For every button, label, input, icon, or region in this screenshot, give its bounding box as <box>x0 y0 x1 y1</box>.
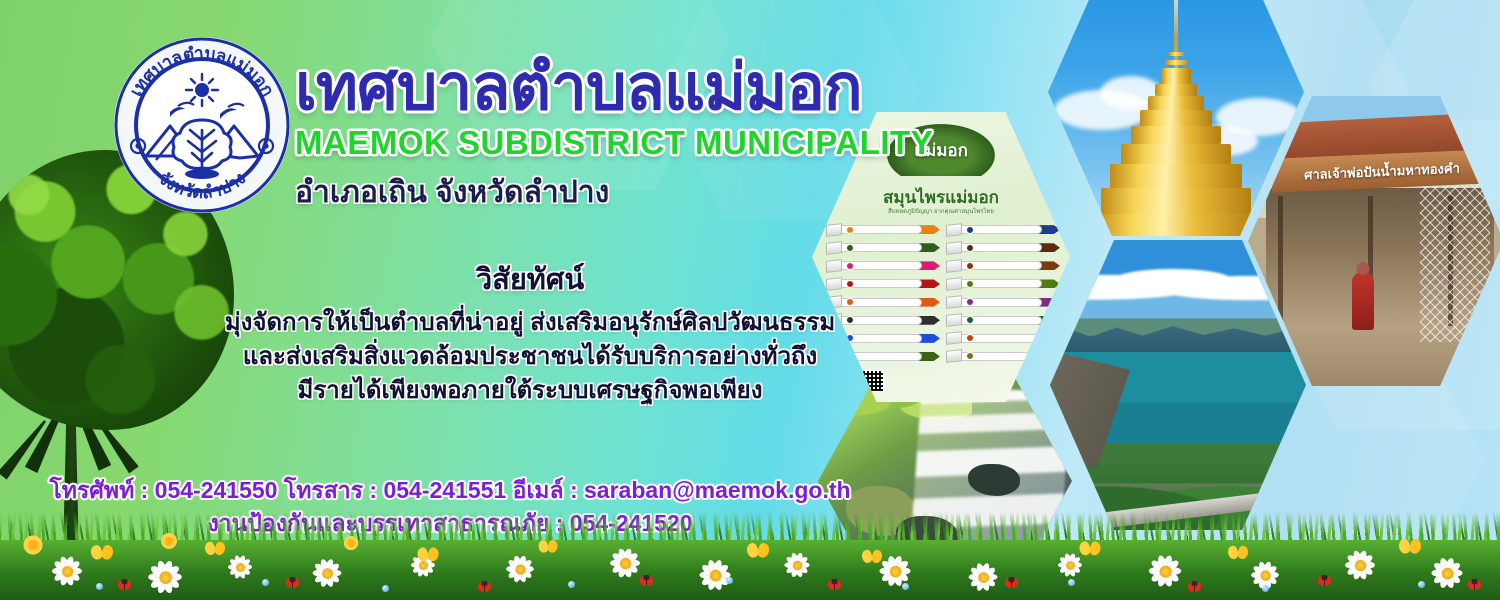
vision-heading: วิสัยทัศน์ <box>210 256 850 302</box>
poster-product-item <box>826 240 940 255</box>
organization-name-english: MAEMOK SUBDISTRICT MUNICIPALITY <box>295 126 995 161</box>
product-box <box>946 223 962 237</box>
photo-golden-pagoda: วัดพ บ้านกุ่ อำเภ <box>1048 0 1304 236</box>
daisy-flower <box>503 552 538 587</box>
product-box <box>826 223 842 237</box>
vision-line-3: มีรายได้เพียงพอภายใต้ระบบเศรษฐกิจพอเพียง <box>210 374 850 408</box>
flower-core <box>515 564 525 574</box>
butterfly-wing <box>1236 545 1250 560</box>
product-dot <box>846 244 854 252</box>
poster-product-item <box>946 295 1060 310</box>
butterfly <box>539 540 558 553</box>
poster-product-item <box>946 240 1060 255</box>
product-arrow <box>1038 334 1060 343</box>
mountain-range <box>1050 318 1306 352</box>
product-box <box>946 295 962 309</box>
vision-line-1: มุ่งจัดการให้เป็นตำบลที่น่าอยู่ ส่งเสริม… <box>210 306 850 340</box>
product-dot <box>966 244 974 252</box>
flower-core <box>1441 567 1453 579</box>
poster-product-grid <box>826 222 1060 364</box>
ladybug <box>828 579 841 590</box>
butterfly <box>1080 542 1101 557</box>
butterfly-wing <box>756 542 771 559</box>
flower-core <box>792 560 801 569</box>
dew-drop <box>726 577 733 584</box>
flower-core <box>1066 561 1075 570</box>
municipal-seal-logo: เทศบาลตำบลแม่มอก จังหวัดลำปาง <box>112 34 292 216</box>
flower-core <box>159 571 172 584</box>
ladybug <box>286 577 299 588</box>
dew-drop <box>1262 585 1269 592</box>
stupa <box>1096 0 1256 236</box>
flower-core <box>1159 565 1171 577</box>
butterfly-wing <box>1408 538 1423 555</box>
ladybug <box>118 579 131 590</box>
product-dot <box>966 262 974 270</box>
poster-product-item <box>946 331 1060 346</box>
seal-svg: เทศบาลตำบลแม่มอก จังหวัดลำปาง <box>112 34 292 216</box>
product-box <box>946 331 962 345</box>
poster-product-item <box>826 222 940 237</box>
shrine-sign-text: ศาลเจ้าพ่อปันน้ำมหาทองคำ <box>1304 157 1460 185</box>
butterfly <box>205 542 225 556</box>
butterfly <box>91 545 113 560</box>
product-dot <box>966 298 974 306</box>
yellow-flower <box>158 530 180 552</box>
ladybug <box>1318 575 1331 586</box>
daisy-flower <box>965 559 1001 595</box>
dew-drop <box>902 583 909 590</box>
contact-phone-fax-email: โทรศัพท์ : 054-241550 โทรสาร : 054-24155… <box>40 474 860 507</box>
product-dot <box>966 226 974 234</box>
municipality-banner: วัดพ บ้านกุ่ อำเภ ศาลเจ้าพ่อปันน้ำมหาทอง… <box>0 0 1500 600</box>
product-dot <box>966 280 974 288</box>
daisy-flower <box>309 555 345 591</box>
vision-line-2: และส่งเสริมสิ่งแวดล้อมประชาชนได้รับบริกา… <box>210 340 850 374</box>
dew-drop <box>262 579 269 586</box>
poster-product-item <box>946 349 1060 364</box>
product-box <box>946 259 962 273</box>
dew-drop <box>1068 579 1075 586</box>
shrine-wire-mesh <box>1420 182 1490 342</box>
poster-product-item <box>946 313 1060 328</box>
product-box <box>826 241 842 255</box>
butterfly-wing <box>100 544 115 561</box>
product-box <box>946 277 962 291</box>
daisy-flower <box>144 556 186 598</box>
product-tag <box>840 352 922 361</box>
flower-core <box>889 565 901 577</box>
shrine-idol <box>1352 272 1374 330</box>
product-box <box>946 350 962 364</box>
ladybug <box>640 575 653 586</box>
ladybug <box>1188 581 1201 592</box>
ladybug <box>1005 577 1018 588</box>
flower-core <box>1354 559 1365 570</box>
yellow-flower <box>20 532 46 558</box>
dam-crest <box>1050 348 1190 468</box>
title-block: เทศบาลตำบลแม่มอก MAEMOK SUBDISTRICT MUNI… <box>295 55 995 216</box>
butterfly-wing <box>213 541 227 556</box>
yellow-flower <box>341 533 361 553</box>
daisy-flower <box>696 556 735 595</box>
flower-core <box>978 572 989 583</box>
dew-drop <box>382 585 389 592</box>
butterfly <box>418 548 439 563</box>
ladybug <box>1468 579 1481 590</box>
daisy-flower <box>48 552 86 590</box>
daisy-flower <box>606 544 644 582</box>
butterfly-wing <box>426 546 440 562</box>
flower-core <box>709 569 721 581</box>
organization-name-thai: เทศบาลตำบลแม่มอก <box>295 55 995 120</box>
dew-drop <box>568 581 575 588</box>
ladybug <box>478 581 491 592</box>
butterfly <box>862 550 882 564</box>
flower-core <box>322 568 333 579</box>
flower-core <box>1260 570 1270 580</box>
daisy-flower <box>1341 546 1379 584</box>
butterfly-wing <box>1088 540 1102 556</box>
daisy-flower <box>781 549 813 581</box>
poster-product-item <box>946 222 1060 237</box>
butterfly-wing <box>870 549 884 564</box>
poster-product-item <box>946 276 1060 291</box>
grass-border <box>0 514 1500 600</box>
dew-drop <box>96 583 103 590</box>
poster-product-item <box>946 258 1060 273</box>
daisy-flower <box>1145 551 1186 592</box>
organization-location: อำเภอเถิน จังหวัดลำปาง <box>295 169 995 216</box>
vision-statement: วิสัยทัศน์ มุ่งจัดการให้เป็นตำบลที่น่าอย… <box>210 256 850 408</box>
dew-drop <box>1418 581 1425 588</box>
product-box <box>946 313 962 327</box>
shrine-beam <box>1278 196 1283 326</box>
qr-code <box>862 370 884 392</box>
butterfly <box>1228 546 1248 560</box>
product-dot <box>846 226 854 234</box>
flower-core <box>61 565 72 576</box>
butterfly <box>747 543 769 558</box>
product-box <box>946 241 962 255</box>
flower-core <box>236 563 245 572</box>
daisy-flower <box>225 552 255 582</box>
product-arrow <box>1038 352 1060 361</box>
daisy-flower <box>1428 554 1467 593</box>
flower-core <box>619 557 630 568</box>
butterfly-wing <box>546 539 559 554</box>
butterfly <box>1399 539 1421 554</box>
